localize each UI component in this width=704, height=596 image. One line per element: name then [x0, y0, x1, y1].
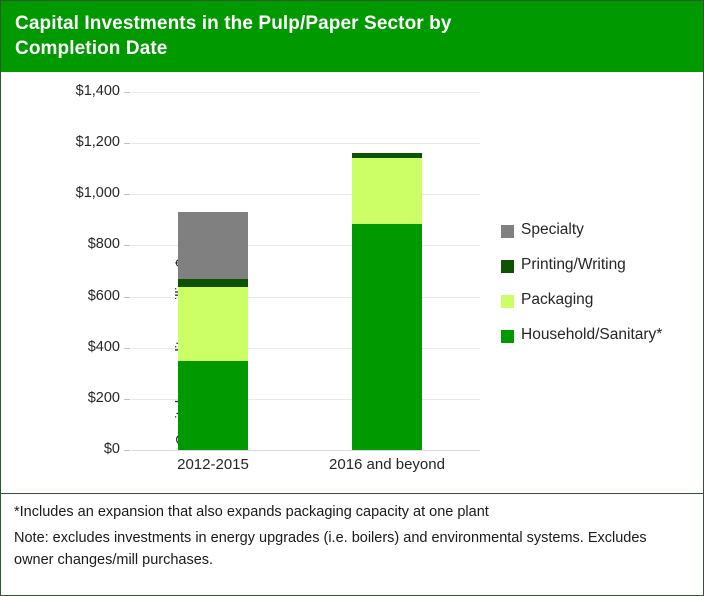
- footnotes: *Includes an expansion that also expands…: [14, 501, 686, 575]
- bar-segment[interactable]: [178, 279, 248, 287]
- y-axis-tick-mark: [124, 92, 130, 93]
- y-axis-tick-mark: [124, 399, 130, 400]
- y-axis-tick-label: $400: [24, 340, 120, 354]
- legend-item[interactable]: Specialty: [501, 219, 699, 254]
- legend-item-label: Specialty: [521, 219, 584, 241]
- y-axis-tick-label: $1,400: [24, 84, 120, 98]
- bar-segment[interactable]: [352, 153, 422, 158]
- bar-segment[interactable]: [352, 158, 422, 224]
- y-axis-tick-label: $200: [24, 391, 120, 405]
- legend-swatch-icon: [501, 225, 514, 238]
- y-axis-tick-mark: [124, 450, 130, 451]
- y-axis-tick-label: $800: [24, 237, 120, 251]
- y-axis-tick-label: $1,000: [24, 186, 120, 200]
- y-axis-tick-mark: [124, 194, 130, 195]
- legend-item-label: Packaging: [521, 289, 593, 311]
- legend-item-label: Household/Sanitary*: [521, 324, 662, 346]
- footnote-asterisk: *Includes an expansion that also expands…: [14, 501, 686, 524]
- footnote-note: Note: excludes investments in energy upg…: [14, 527, 686, 572]
- y-axis-tick-mark: [124, 297, 130, 298]
- y-axis-tick-mark: [124, 143, 130, 144]
- legend-swatch-icon: [501, 330, 514, 343]
- legend-swatch-icon: [501, 295, 514, 308]
- gridline: [131, 450, 480, 451]
- title-banner-inner: Capital Investments in the Pulp/Paper Se…: [15, 11, 615, 61]
- legend-item[interactable]: Packaging: [501, 289, 699, 324]
- bar-segment[interactable]: [178, 361, 248, 450]
- bar-group[interactable]: [352, 92, 422, 450]
- legend-swatch-icon: [501, 260, 514, 273]
- chart-figure: Capital Investments in the Pulp/Paper Se…: [0, 0, 704, 596]
- bar-segment[interactable]: [178, 212, 248, 279]
- bar-segment[interactable]: [352, 224, 422, 450]
- y-axis-tick-label: $1,200: [24, 135, 120, 149]
- page-title: Capital Investments in the Pulp/Paper Se…: [15, 11, 615, 61]
- legend-item[interactable]: Printing/Writing: [501, 254, 699, 289]
- bar-segment[interactable]: [178, 287, 248, 361]
- x-axis-tick-label: 2016 and beyond: [287, 456, 487, 473]
- y-axis-tick-mark: [124, 245, 130, 246]
- bar-group[interactable]: [178, 92, 248, 450]
- legend-item-label: Printing/Writing: [521, 254, 626, 276]
- y-axis-tick-label: $600: [24, 289, 120, 303]
- legend-item[interactable]: Household/Sanitary*: [501, 324, 699, 359]
- y-axis-tick-mark: [124, 348, 130, 349]
- chart-legend: SpecialtyPrinting/WritingPackagingHouseh…: [501, 219, 699, 359]
- y-axis-tick-label: $0: [24, 442, 120, 456]
- x-axis-tick-label: 2012-2015: [113, 456, 313, 473]
- title-banner: Capital Investments in the Pulp/Paper Se…: [1, 1, 703, 72]
